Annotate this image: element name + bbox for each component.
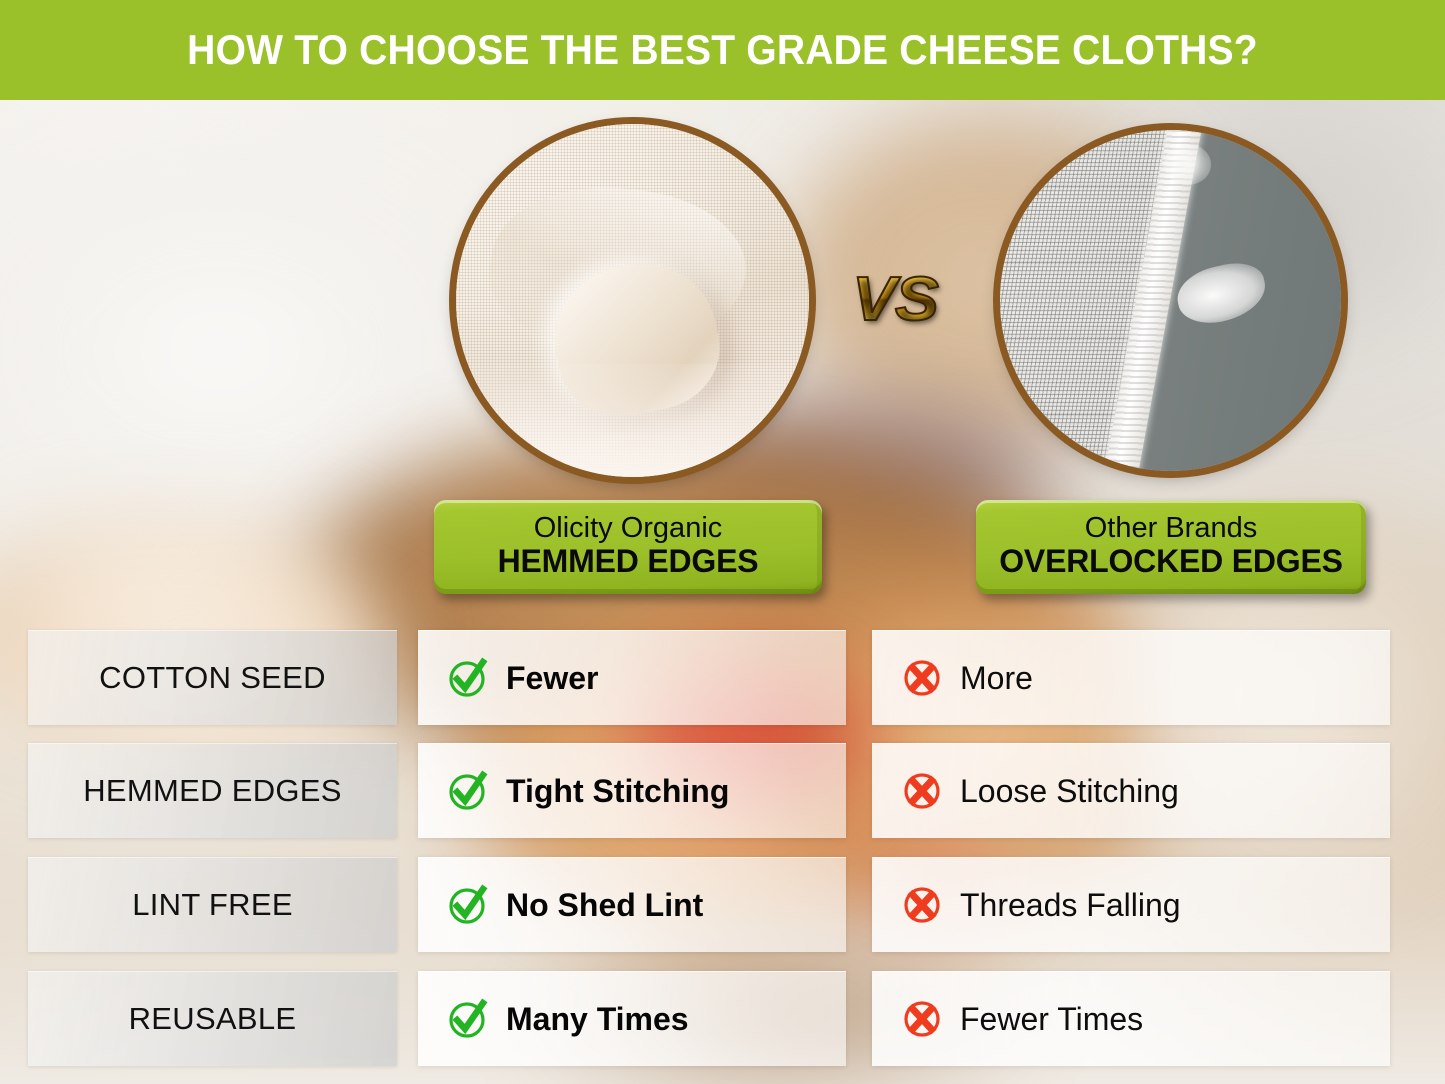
check-circle-icon <box>446 997 490 1041</box>
olicity-value-cell: No Shed Lint <box>418 857 846 952</box>
olicity-value-cell: Tight Stitching <box>418 743 846 838</box>
olicity-value-text: Many Times <box>506 1001 689 1038</box>
infographic-root: HOW TO CHOOSE THE BEST GRADE CHEESE CLOT… <box>0 0 1445 1084</box>
other-brands-value-text: Fewer Times <box>960 1001 1143 1038</box>
other-brands-value-cell: More <box>872 630 1390 725</box>
feature-label-cell: HEMMED EDGES <box>28 743 397 838</box>
olicity-value-cell: Fewer <box>418 630 846 725</box>
feature-label-text: LINT FREE <box>132 887 293 923</box>
cross-circle-icon <box>900 883 944 927</box>
olicity-value-cell: Many Times <box>418 971 846 1066</box>
feature-label-cell: COTTON SEED <box>28 630 397 725</box>
feature-label-cell: LINT FREE <box>28 857 397 952</box>
check-circle-icon <box>446 883 490 927</box>
other-brands-value-text: Threads Falling <box>960 887 1181 924</box>
comparison-table: COTTON SEEDFewerMoreHEMMED EDGESTight St… <box>0 0 1445 1084</box>
other-brands-value-text: More <box>960 660 1033 697</box>
cross-circle-icon <box>900 997 944 1041</box>
cross-circle-icon <box>900 656 944 700</box>
other-brands-value-cell: Fewer Times <box>872 971 1390 1066</box>
cross-circle-icon <box>900 769 944 813</box>
olicity-value-text: No Shed Lint <box>506 887 703 924</box>
feature-label-text: COTTON SEED <box>99 660 326 696</box>
olicity-value-text: Tight Stitching <box>506 773 729 810</box>
feature-label-cell: REUSABLE <box>28 971 397 1066</box>
other-brands-value-cell: Threads Falling <box>872 857 1390 952</box>
feature-label-text: REUSABLE <box>129 1001 297 1037</box>
other-brands-value-text: Loose Stitching <box>960 773 1179 810</box>
olicity-value-text: Fewer <box>506 660 598 697</box>
check-circle-icon <box>446 769 490 813</box>
feature-label-text: HEMMED EDGES <box>83 773 342 809</box>
other-brands-value-cell: Loose Stitching <box>872 743 1390 838</box>
check-circle-icon <box>446 656 490 700</box>
